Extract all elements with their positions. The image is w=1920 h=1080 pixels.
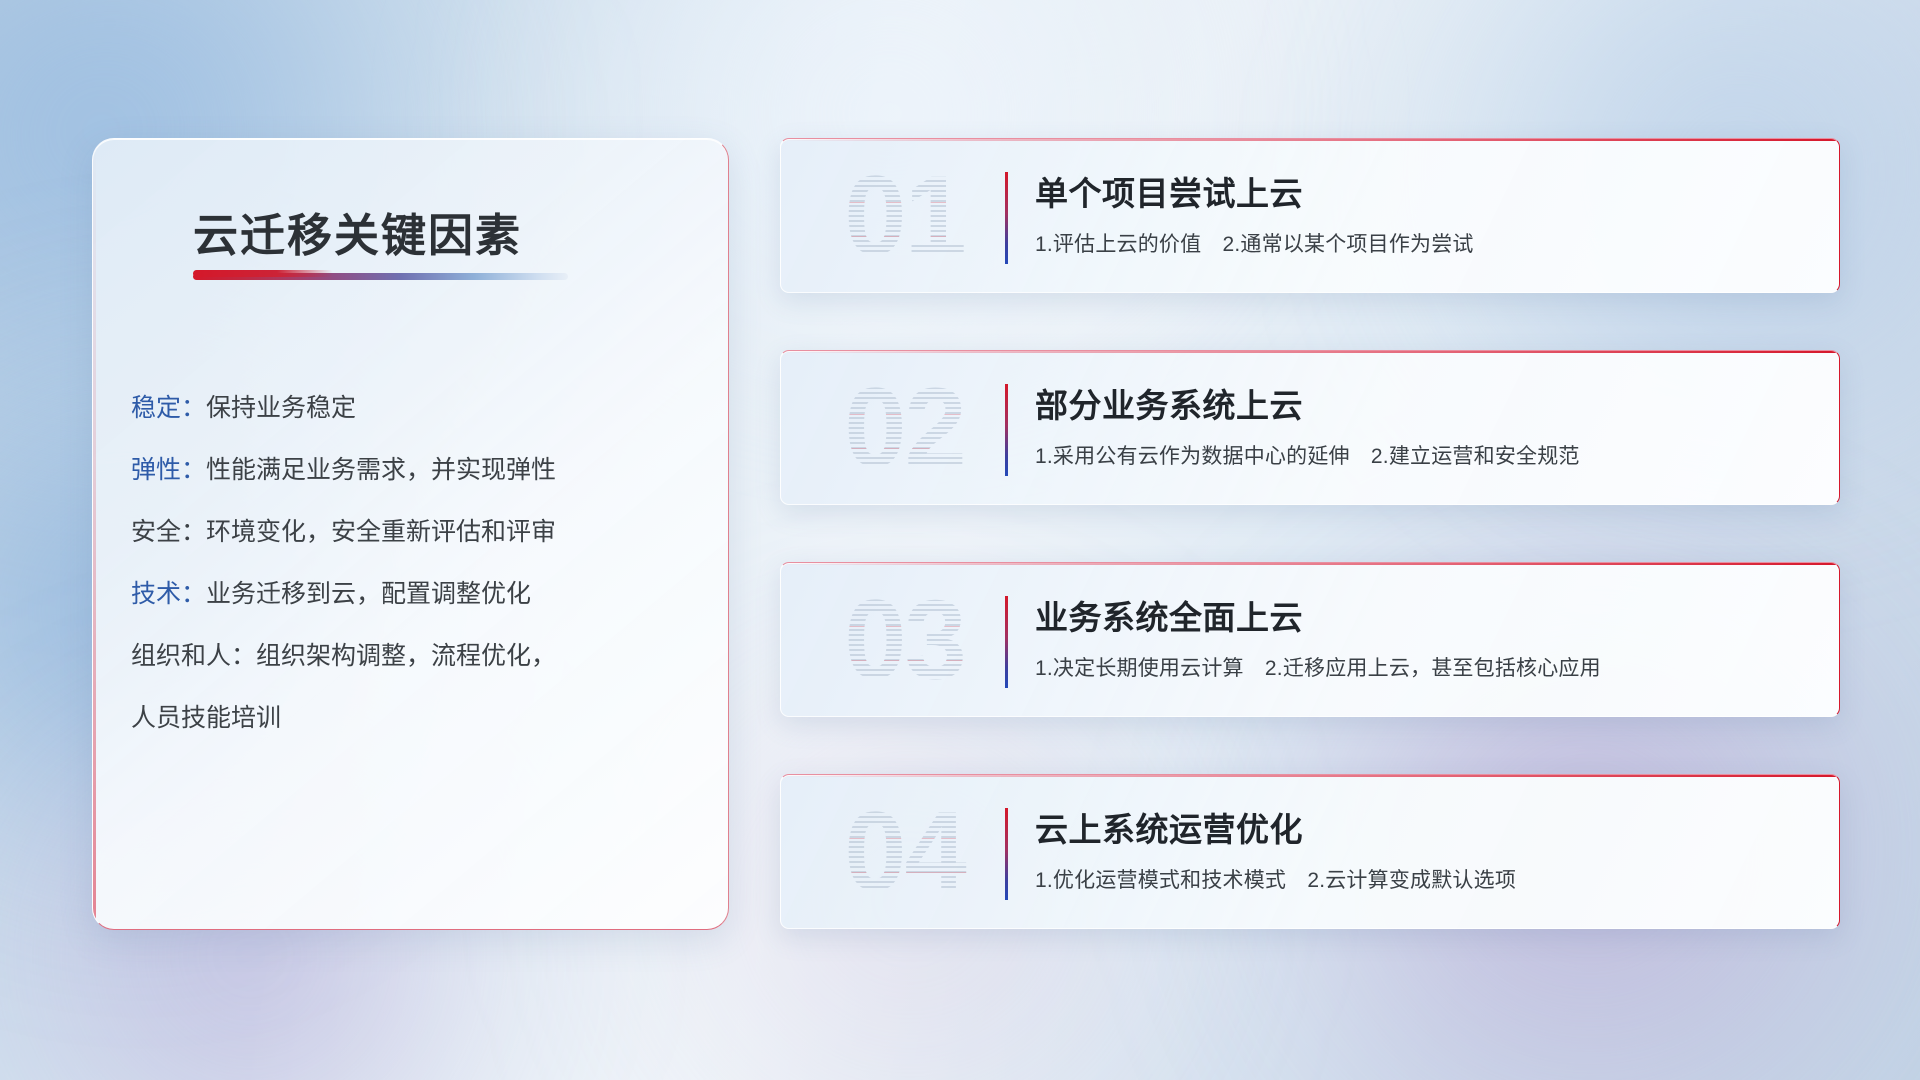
factor-text: 性能满足业务需求，并实现弹性 — [206, 456, 556, 484]
stage-card[interactable]: 02 02 部分业务系统上云 1.采用公有云作为数据中心的延伸 2.建立运营和安… — [780, 350, 1840, 505]
factor-item: 弹性：性能满足业务需求，并实现弹性 — [131, 439, 691, 501]
title-underline — [193, 273, 568, 280]
factor-item: 技术：业务迁移到云，配置调整优化 — [131, 563, 691, 625]
factor-label: 组织和人： — [131, 642, 256, 670]
factor-label: 稳定： — [131, 394, 206, 422]
factor-item: 安全：环境变化，安全重新评估和评审 — [131, 501, 691, 563]
stage-description: 1.决定长期使用云计算 2.迁移应用上云，甚至包括核心应用 — [1035, 652, 1601, 682]
stage-card-list: 01 01 单个项目尝试上云 1.评估上云的价值 2.通常以某个项目作为尝试 0… — [780, 138, 1840, 986]
factor-label: 弹性： — [131, 456, 206, 484]
factor-list: 稳定：保持业务稳定 弹性：性能满足业务需求，并实现弹性 安全：环境变化，安全重新… — [131, 377, 691, 749]
stage-card[interactable]: 03 03 业务系统全面上云 1.决定长期使用云计算 2.迁移应用上云，甚至包括… — [780, 562, 1840, 717]
factor-label: 技术： — [131, 580, 206, 608]
slide-canvas: 云迁移关键因素 稳定：保持业务稳定 弹性：性能满足业务需求，并实现弹性 安全：环… — [0, 0, 1920, 1080]
stage-title: 部分业务系统上云 — [1035, 379, 1303, 427]
stage-title: 单个项目尝试上云 — [1035, 167, 1303, 215]
factor-text: 保持业务稳定 — [206, 394, 356, 422]
factor-label: 安全： — [131, 518, 206, 546]
factor-item: 稳定：保持业务稳定 — [131, 377, 691, 439]
stage-accent-bar — [1005, 172, 1008, 264]
stage-accent-bar — [1005, 596, 1008, 688]
stage-number-ghost-tint: 01 — [817, 155, 992, 277]
stage-card[interactable]: 04 04 云上系统运营优化 1.优化运营模式和技术模式 2.云计算变成默认选项 — [780, 774, 1840, 929]
stage-title: 云上系统运营优化 — [1035, 803, 1303, 851]
factor-text: 环境变化，安全重新评估和评审 — [206, 518, 556, 546]
stage-description: 1.优化运营模式和技术模式 2.云计算变成默认选项 — [1035, 864, 1516, 894]
stage-accent-bar — [1005, 808, 1008, 900]
factor-text: 业务迁移到云，配置调整优化 — [206, 580, 531, 608]
stage-accent-bar — [1005, 384, 1008, 476]
factor-item: 组织和人：组织架构调整，流程优化， — [131, 625, 691, 687]
factor-item: 人员技能培训 — [131, 687, 691, 749]
factor-text: 人员技能培训 — [131, 704, 281, 732]
stage-description: 1.评估上云的价值 2.通常以某个项目作为尝试 — [1035, 228, 1474, 258]
stage-number-ghost-tint: 02 — [817, 367, 992, 489]
stage-title: 业务系统全面上云 — [1035, 591, 1303, 639]
key-factors-panel: 云迁移关键因素 稳定：保持业务稳定 弹性：性能满足业务需求，并实现弹性 安全：环… — [92, 138, 729, 930]
page-title: 云迁移关键因素 — [193, 199, 522, 264]
stage-description: 1.采用公有云作为数据中心的延伸 2.建立运营和安全规范 — [1035, 440, 1580, 470]
factor-text: 组织架构调整，流程优化， — [256, 642, 556, 670]
stage-number-ghost-tint: 04 — [817, 791, 992, 913]
stage-card[interactable]: 01 01 单个项目尝试上云 1.评估上云的价值 2.通常以某个项目作为尝试 — [780, 138, 1840, 293]
stage-number-ghost-tint: 03 — [817, 579, 992, 701]
